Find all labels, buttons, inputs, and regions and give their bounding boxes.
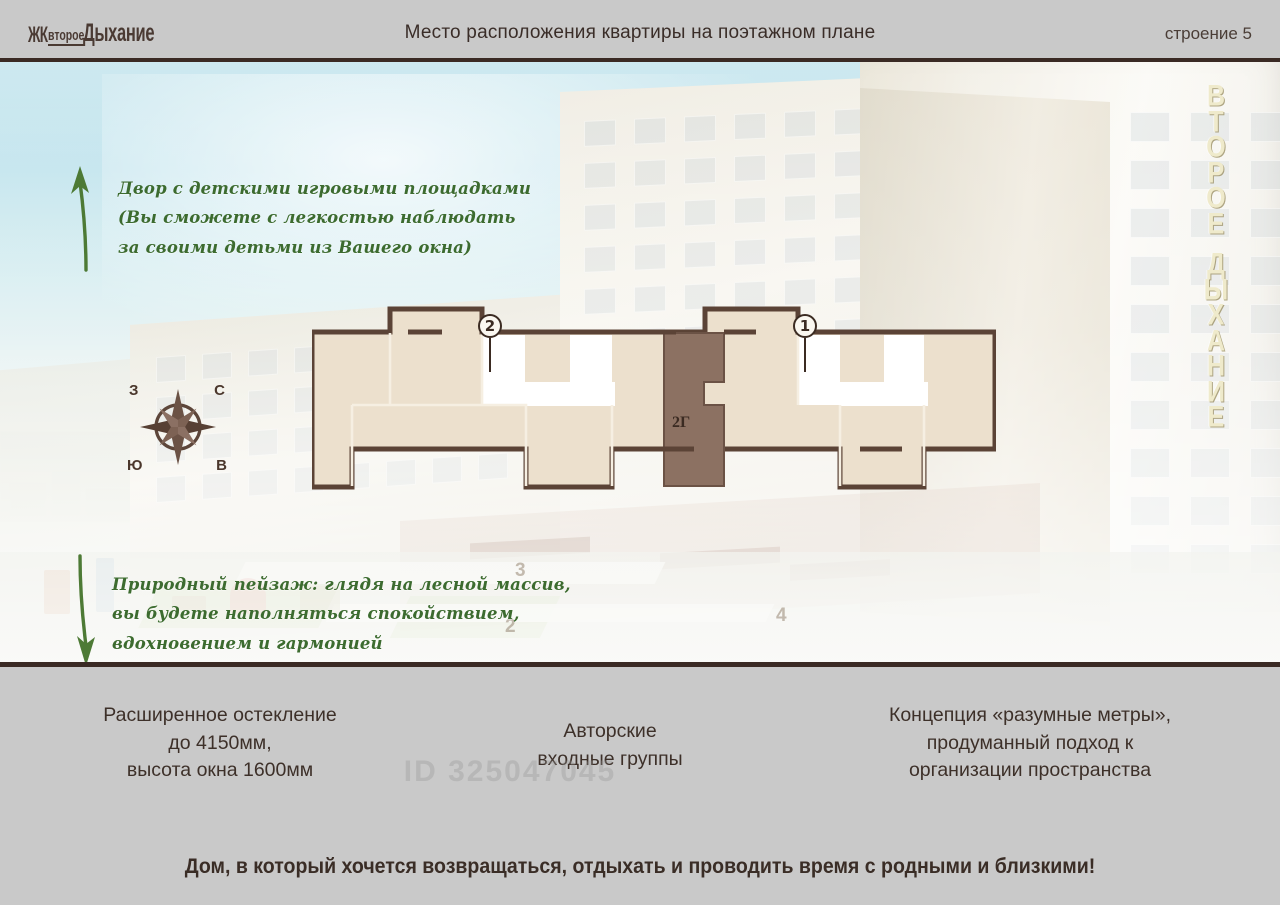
entrance-marker-1-stem [804,338,807,372]
feature-smart-line: организации пространства [794,757,1266,785]
annotation-nature-line: Природный пейзаж: глядя на лесной массив… [112,570,571,599]
entrance-marker-2[interactable]: 2 [478,314,502,372]
building-label: строение 5 [1165,24,1252,44]
entrance-marker-2-label: 2 [478,314,502,338]
arrow-down-icon [60,552,102,667]
floor-plan-infographic: ЖК второе Дыхание Место расположения ква… [0,0,1280,905]
feature-smart-line: продуманный подход к [794,730,1266,758]
feature-list: Расширенное остекление до 4150мм, высота… [0,702,1280,785]
entrance-marker-1-label: 1 [793,314,817,338]
feature-glazing: Расширенное остекление до 4150мм, высота… [0,702,440,785]
sign-letter: Е [1208,403,1225,432]
annotation-yard-line: (Вы сможете с легкостью наблюдать [118,203,531,232]
feature-smart-meters: Концепция «разумные метры», продуманный … [780,702,1280,785]
feature-glazing-line: до 4150мм, [14,730,426,758]
floor-plan [312,287,996,517]
photo-stage: 2 3 4 В Т О Р О Е Д Ы Х А Н И Е [0,62,1280,667]
arrow-up-icon [62,160,102,277]
footer-tagline: Дом, в который хочется возвращаться, отд… [45,855,1235,879]
header-bar: ЖК второе Дыхание Место расположения ква… [0,0,1280,62]
annotation-nature: Природный пейзаж: глядя на лесной массив… [112,570,571,658]
floor-plan-svg[interactable] [312,287,996,517]
feature-entrance-groups: Авторские входные группы [440,702,780,773]
feature-entrance-line: входные группы [454,746,766,774]
apartment-label-2g: 2Г [672,414,690,432]
page-title: Место расположения квартиры на поэтажном… [0,22,1280,44]
building-vertical-sign: В Т О Р О Е Д Ы Х А Н И Е [1194,84,1238,604]
photo-number-4: 4 [776,605,787,627]
compass-rose: З С Ю В [127,380,229,474]
annotation-yard: Двор с детскими игровыми площадками (Вы … [118,174,531,262]
feature-glazing-line: высота окна 1600мм [14,757,426,785]
annotation-yard-line: за своими детьми из Вашего окна) [118,233,531,262]
annotation-yard-line: Двор с детскими игровыми площадками [118,174,531,203]
annotation-nature-line: вы будете наполняться спокойствием, [112,599,571,628]
feature-smart-line: Концепция «разумные метры», [794,702,1266,730]
compass-rose-icon [127,380,229,474]
feature-glazing-line: Расширенное остекление [14,702,426,730]
entrance-marker-2-stem [489,338,492,372]
entrance-marker-1[interactable]: 1 [793,314,817,372]
annotation-nature-line: вдохновением и гармонией [112,629,571,658]
sign-letter: Е [1208,209,1225,238]
feature-entrance-line: Авторские [454,718,766,746]
highlighted-apartment-2g [664,333,724,486]
footer-bar: Расширенное остекление до 4150мм, высота… [0,672,1280,905]
